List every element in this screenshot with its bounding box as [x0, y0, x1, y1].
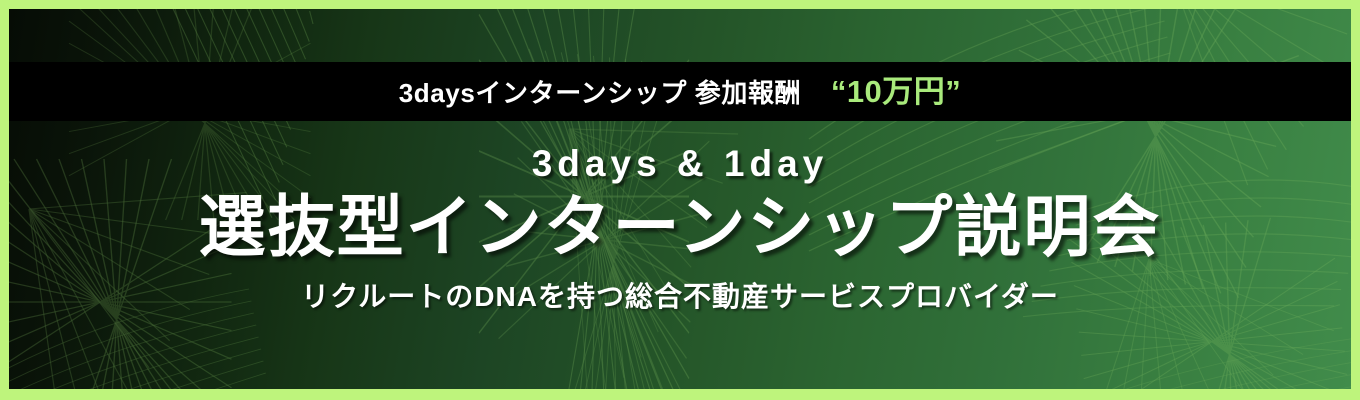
internship-hero-banner: 3daysインターンシップ 参加報酬 “10万円” 3days & 1day 選… [0, 0, 1360, 400]
program-format-eyebrow: 3days & 1day [532, 145, 829, 184]
ribbon-text: 3daysインターンシップ 参加報酬 “10万円” [399, 76, 962, 107]
banner-headline: 選抜型インターンシップ説明会 [199, 192, 1162, 264]
ribbon-lead-text: 3daysインターンシップ 参加報酬 [399, 78, 801, 108]
ribbon-amount-text: “10万円” [831, 74, 961, 109]
banner-content: 3days & 1day 選抜型インターンシップ説明会 リクルートのDNAを持つ… [9, 121, 1351, 389]
reward-ribbon: 3daysインターンシップ 参加報酬 “10万円” [9, 62, 1351, 121]
banner-subline: リクルートのDNAを持つ総合不動産サービスプロバイダー [301, 282, 1059, 313]
banner-inner-surface: 3daysインターンシップ 参加報酬 “10万円” 3days & 1day 選… [9, 9, 1351, 389]
